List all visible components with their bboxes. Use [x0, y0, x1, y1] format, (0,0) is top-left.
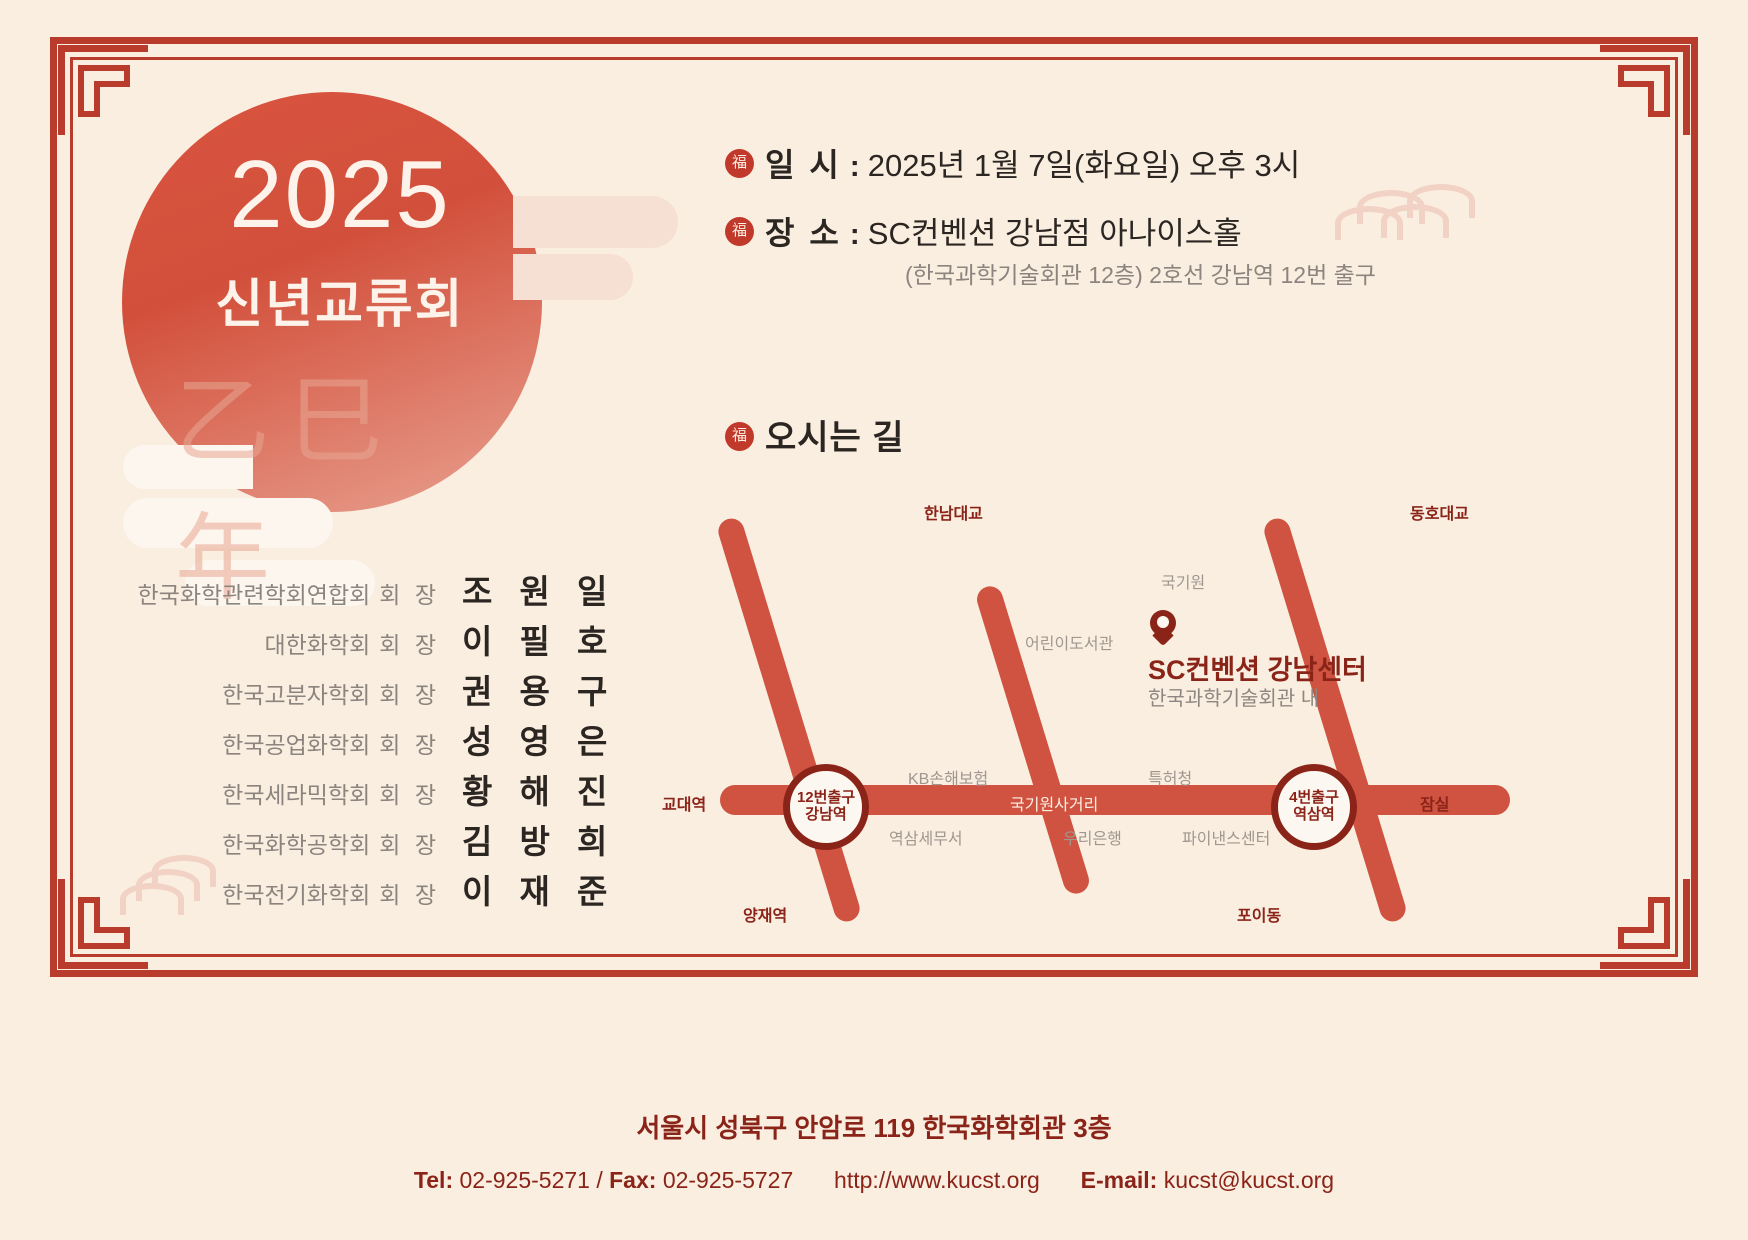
map-label-childrens-library: 어린이도서관 — [1025, 630, 1113, 654]
footer: 서울시 성북구 안암로 119 한국화학회관 3층 Tel: 02-925-52… — [0, 1080, 1748, 1240]
map-label-dongho-bridge: 동호대교 — [1410, 500, 1469, 524]
list-item: 한국공업화학회 회 장 성 영 은 — [120, 715, 590, 765]
official-name: 권 용 구 — [462, 665, 590, 713]
poster-root: 乙巳年 2025 신년교류회 福 일 시 : 2025년 1월 7일(화요일) … — [0, 0, 1748, 1240]
cloud-decoration-right-2 — [513, 254, 633, 300]
official-name: 황 해 진 — [462, 765, 590, 813]
footer-email-value[interactable]: kucst@kucst.org — [1164, 1167, 1334, 1193]
map-label-patent-office: 특허청 — [1148, 765, 1192, 789]
official-name: 김 방 희 — [462, 815, 590, 863]
map-venue-sub: 한국과학기술회관 내 — [1148, 682, 1319, 711]
corner-ornament-top-right — [1600, 45, 1690, 135]
info-label-datetime: 일 시 — [765, 140, 842, 186]
footer-tel-value: 02-925-5271 — [460, 1167, 590, 1193]
map-label-poidong: 포이동 — [1237, 902, 1281, 926]
map-label-hannam-bridge: 한남대교 — [924, 500, 983, 524]
official-role: 회 장 — [379, 676, 440, 710]
officials-list: 한국화학관련학회연합회 회 장 조 원 일 대한화학회 회 장 이 필 호 한국… — [120, 565, 590, 915]
station-gangnam[interactable]: 12번출구 강남역 — [783, 764, 869, 850]
footer-address: 서울시 성북구 안암로 119 한국화학회관 3층 — [0, 1108, 1748, 1145]
station-gangnam-name: 강남역 — [805, 807, 846, 824]
info-row-venue: 福 장 소 : SC컨벤션 강남점 아나이스홀 (한국과학기술회관 12층) 2… — [725, 208, 1505, 290]
station-yeoksam-exit: 4번출구 — [1289, 790, 1339, 807]
list-item: 한국세라믹학회 회 장 황 해 진 — [120, 765, 590, 815]
official-name: 성 영 은 — [462, 715, 590, 763]
official-org: 한국화학관련학회연합회 — [138, 576, 371, 610]
list-item: 한국전기화학회 회 장 이 재 준 — [120, 865, 590, 915]
official-name: 이 재 준 — [462, 865, 590, 913]
official-role: 회 장 — [379, 576, 440, 610]
official-org: 한국공업화학회 — [222, 726, 370, 760]
map-label-woori-bank: 우리은행 — [1063, 825, 1122, 849]
fortune-badge-icon-2: 福 — [725, 217, 754, 246]
corner-ornament-top-left — [58, 45, 148, 135]
map-label-finance-center: 파이낸스센터 — [1182, 825, 1270, 849]
info-colon-datetime: : — [850, 150, 860, 184]
info-value-venue: SC컨벤션 강남점 아나이스홀 — [868, 208, 1242, 253]
fortune-badge-icon-3: 福 — [725, 422, 754, 451]
map-label-gyodae-station: 교대역 — [662, 791, 706, 815]
map-road-diagonal-3 — [1261, 515, 1409, 924]
list-item: 한국화학공학회 회 장 김 방 희 — [120, 815, 590, 865]
footer-fax-label: Fax: — [609, 1167, 656, 1193]
map-label-gukgiwon-intersection: 국기원사거리 — [1010, 791, 1098, 815]
official-role: 회 장 — [379, 726, 440, 760]
station-gangnam-exit: 12번출구 — [797, 790, 855, 807]
official-org: 한국고분자학회 — [222, 676, 370, 710]
event-title: 신년교류회 — [170, 262, 510, 337]
official-role: 회 장 — [379, 826, 440, 860]
map-label-yangjae-station: 양재역 — [743, 902, 787, 926]
cloud-decoration-right — [513, 196, 678, 248]
directions-heading: 福 오시는 길 — [725, 410, 905, 459]
map-label-kb-insurance: KB손해보험 — [908, 765, 988, 789]
list-item: 한국고분자학회 회 장 권 용 구 — [120, 665, 590, 715]
footer-email-label: E-mail: — [1081, 1167, 1158, 1193]
official-role: 회 장 — [379, 876, 440, 910]
station-yeoksam-name: 역삼역 — [1293, 807, 1334, 824]
official-name: 조 원 일 — [462, 565, 590, 613]
station-yeoksam[interactable]: 4번출구 역삼역 — [1271, 764, 1357, 850]
info-label-venue: 장 소 — [765, 208, 842, 254]
info-colon-venue: : — [850, 218, 860, 252]
map-road-diagonal-1 — [715, 515, 863, 924]
fortune-badge-icon: 福 — [725, 149, 754, 178]
corner-ornament-bottom-right — [1600, 879, 1690, 969]
official-name: 이 필 호 — [462, 615, 590, 663]
footer-website-link[interactable]: http://www.kucst.org — [834, 1167, 1040, 1193]
official-role: 회 장 — [379, 626, 440, 660]
official-org: 대한화학회 — [264, 626, 370, 660]
footer-separator: / — [596, 1167, 602, 1193]
official-org: 한국전기화학회 — [222, 876, 370, 910]
official-role: 회 장 — [379, 776, 440, 810]
directions-title: 오시는 길 — [765, 410, 905, 459]
footer-fax-value: 02-925-5727 — [663, 1167, 793, 1193]
map-label-yeoksam-tax-office: 역삼세무서 — [889, 825, 963, 849]
list-item: 한국화학관련학회연합회 회 장 조 원 일 — [120, 565, 590, 615]
event-info-block: 福 일 시 : 2025년 1월 7일(화요일) 오후 3시 福 장 소 : S… — [725, 140, 1505, 308]
info-value-datetime: 2025년 1월 7일(화요일) 오후 3시 — [868, 140, 1300, 185]
map-label-jamsil: 잠실 — [1420, 791, 1449, 815]
list-item: 대한화학회 회 장 이 필 호 — [120, 615, 590, 665]
footer-contact-line: Tel: 02-925-5271 / Fax: 02-925-5727 http… — [0, 1167, 1748, 1194]
map-pin-icon — [1150, 610, 1176, 636]
official-org: 한국세라믹학회 — [222, 776, 370, 810]
info-row-datetime: 福 일 시 : 2025년 1월 7일(화요일) 오후 3시 — [725, 140, 1505, 186]
year-number: 2025 — [190, 140, 490, 250]
info-sub-venue: (한국과학기술회관 12층) 2호선 강남역 12번 출구 — [905, 256, 1376, 290]
official-org: 한국화학공학회 — [222, 826, 370, 860]
map-label-gukgiwon: 국기원 — [1161, 569, 1205, 593]
footer-tel-label: Tel: — [414, 1167, 453, 1193]
location-map[interactable]: 12번출구 강남역 4번출구 역삼역 SC컨벤션 강남센터 한국과학기술회관 내… — [640, 480, 1540, 940]
